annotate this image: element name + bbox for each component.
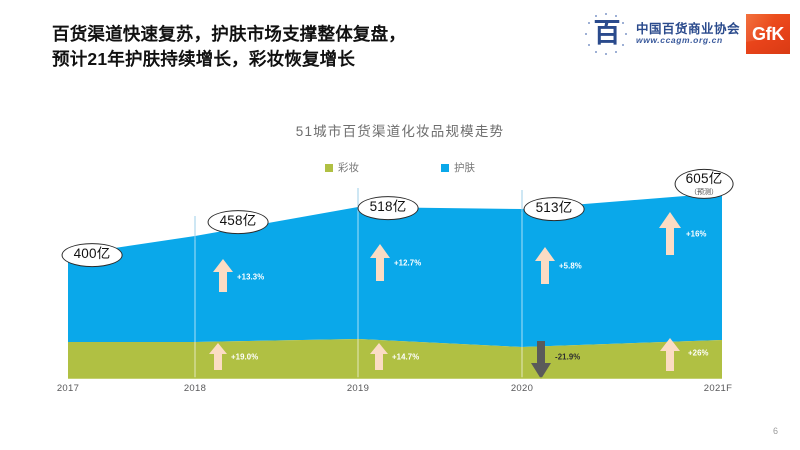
ccagm-logo-icon: 百 <box>584 11 630 57</box>
value-callout-2021-label: 605亿 <box>686 171 723 186</box>
chart-title: 51城市百货渠道化妆品规模走势 <box>0 120 800 140</box>
value-callout-2021-note: （预测） <box>686 189 723 196</box>
legend-swatch-makeup <box>325 164 333 172</box>
arrow-up-skincare-2021 <box>659 212 681 255</box>
growth-label-makeup-2019: +14.7% <box>392 353 419 362</box>
growth-label-skincare-2021: +16% <box>686 230 707 239</box>
arrow-up-skincare-2018 <box>213 259 233 292</box>
page-title-line-1: 百货渠道快速复苏，护肤市场支撑整体复盘， <box>52 22 572 47</box>
legend-item-makeup: 彩妆 <box>325 160 359 175</box>
value-callout-2018-label: 458亿 <box>220 213 257 228</box>
growth-label-makeup-2018: +19.0% <box>231 353 258 362</box>
ccagm-org-name: 中国百货商业协会 <box>636 22 740 36</box>
arrow-up-makeup-2018 <box>209 343 227 370</box>
value-callout-2017-label: 400亿 <box>74 246 111 261</box>
gfk-logo-text: GfK <box>752 24 784 45</box>
growth-label-makeup-2020: -21.9% <box>555 353 580 362</box>
growth-label-makeup-2021: +26% <box>688 349 709 358</box>
gfk-logo: GfK <box>746 14 790 54</box>
ccagm-logo-text: 中国百货商业协会 www.ccagm.org.cn <box>636 22 740 46</box>
arrow-up-skincare-2019 <box>370 244 390 281</box>
page-title-line-2: 预计21年护肤持续增长，彩妆恢复增长 <box>52 47 572 72</box>
arrow-down-makeup-2020 <box>531 341 551 379</box>
axis-label-2019: 2019 <box>347 383 369 394</box>
page-title: 百货渠道快速复苏，护肤市场支撑整体复盘， 预计21年护肤持续增长，彩妆恢复增长 <box>52 22 572 73</box>
value-callout-2018: 458亿 <box>208 210 269 234</box>
legend-item-skincare: 护肤 <box>441 160 475 175</box>
growth-label-skincare-2019: +12.7% <box>394 259 421 268</box>
value-callout-2019-label: 518亿 <box>370 199 407 214</box>
axis-label-2020: 2020 <box>511 383 533 394</box>
legend-label-makeup: 彩妆 <box>338 160 359 175</box>
logo-block: 百 中国百货商业协会 www.ccagm.org.cn GfK <box>584 10 790 58</box>
legend-swatch-skincare <box>441 164 449 172</box>
arrow-up-makeup-2021 <box>660 338 680 371</box>
ccagm-logo-glyph: 百 <box>593 20 620 47</box>
page-number: 6 <box>773 426 778 436</box>
axis-label-2018: 2018 <box>184 383 206 394</box>
value-callout-2020-label: 513亿 <box>536 200 573 215</box>
value-callout-2019: 518亿 <box>358 196 419 220</box>
legend-label-skincare: 护肤 <box>454 160 475 175</box>
growth-label-skincare-2020: +5.8% <box>559 262 582 271</box>
growth-label-skincare-2018: +13.3% <box>237 273 264 282</box>
chart-legend: 彩妆 护肤 <box>0 160 800 175</box>
axis-label-2017: 2017 <box>57 383 79 394</box>
arrow-up-makeup-2019 <box>370 343 388 370</box>
value-callout-2021: 605亿 （预测） <box>675 169 734 199</box>
axis-label-2021f: 2021F <box>704 383 732 394</box>
arrow-up-skincare-2020 <box>535 247 555 284</box>
value-callout-2017: 400亿 <box>62 243 123 267</box>
value-callout-2020: 513亿 <box>524 197 585 221</box>
ccagm-org-url: www.ccagm.org.cn <box>636 36 740 46</box>
